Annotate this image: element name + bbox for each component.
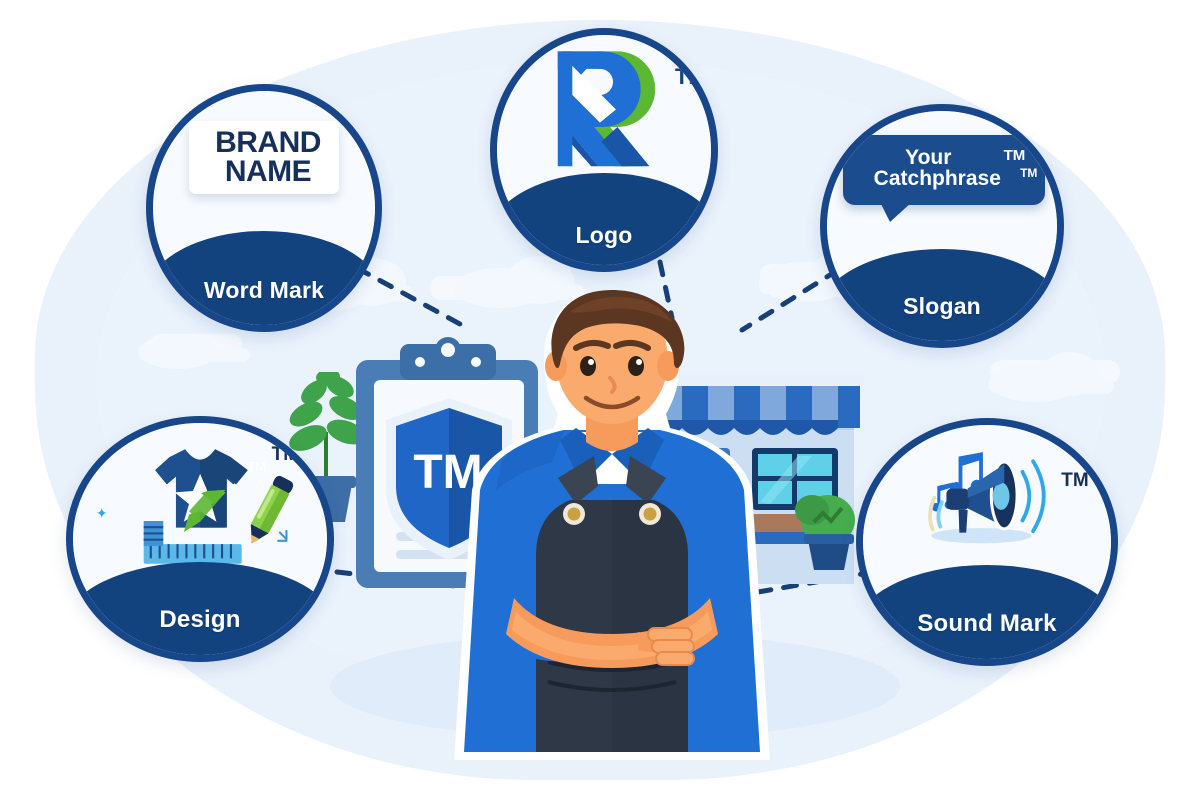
sparkle-icon: ✦	[96, 506, 108, 520]
sound-wave-icon	[930, 498, 942, 530]
slogan-line-2: Catchphrase	[836, 167, 1038, 191]
tm-symbol: TM	[348, 111, 370, 128]
brand-name-text: BRAND NAME	[215, 129, 321, 187]
sound-mark-art: TM	[863, 425, 1111, 575]
word-mark-art: BRAND NAME TM	[153, 91, 375, 241]
megaphone-icon	[898, 446, 1082, 545]
node-label-sound-mark: Sound Mark	[863, 610, 1111, 638]
speech-bubble-icon: Your Catchphrase TM TM	[843, 135, 1045, 206]
r-monogram-logo-icon	[523, 47, 686, 171]
pencil-icon	[225, 471, 311, 554]
node-label-slogan: Slogan	[827, 293, 1057, 320]
node-label-word-mark: Word Mark	[153, 277, 375, 304]
business-owner-avatar	[452, 282, 772, 762]
slogan-art: Your Catchphrase TM TM	[827, 111, 1057, 258]
tm-symbol-primary: TM	[272, 444, 299, 466]
tm-symbol: TM	[675, 64, 707, 90]
node-slogan[interactable]: Your Catchphrase TM TM Slogan	[820, 104, 1064, 348]
node-word-mark[interactable]: BRAND NAME TM Word Mark	[146, 84, 382, 332]
node-logo[interactable]: TM Logo	[490, 28, 718, 272]
tm-symbol-secondary: TM	[1020, 166, 1037, 180]
tm-symbol: TM	[1061, 470, 1088, 492]
node-design[interactable]: ✦ ✦ TM TM Design	[66, 416, 334, 662]
brand-name-card-icon: BRAND NAME TM	[189, 121, 340, 194]
design-art: ✦ ✦ TM TM	[73, 423, 327, 571]
illustration-canvas: TM	[0, 0, 1200, 800]
cloud-icon	[990, 360, 1120, 384]
tm-symbol-primary: TM	[1004, 147, 1026, 164]
node-sound-mark[interactable]: TM Sound Mark	[856, 418, 1118, 666]
sparkle-icon: ✦	[93, 444, 107, 461]
logo-art: TM	[497, 35, 711, 182]
node-label-logo: Logo	[497, 222, 711, 249]
tm-symbol-secondary: TM	[247, 459, 266, 474]
sound-wave-icon	[1022, 461, 1043, 531]
cloud-icon	[150, 334, 242, 354]
node-label-design: Design	[73, 606, 327, 634]
